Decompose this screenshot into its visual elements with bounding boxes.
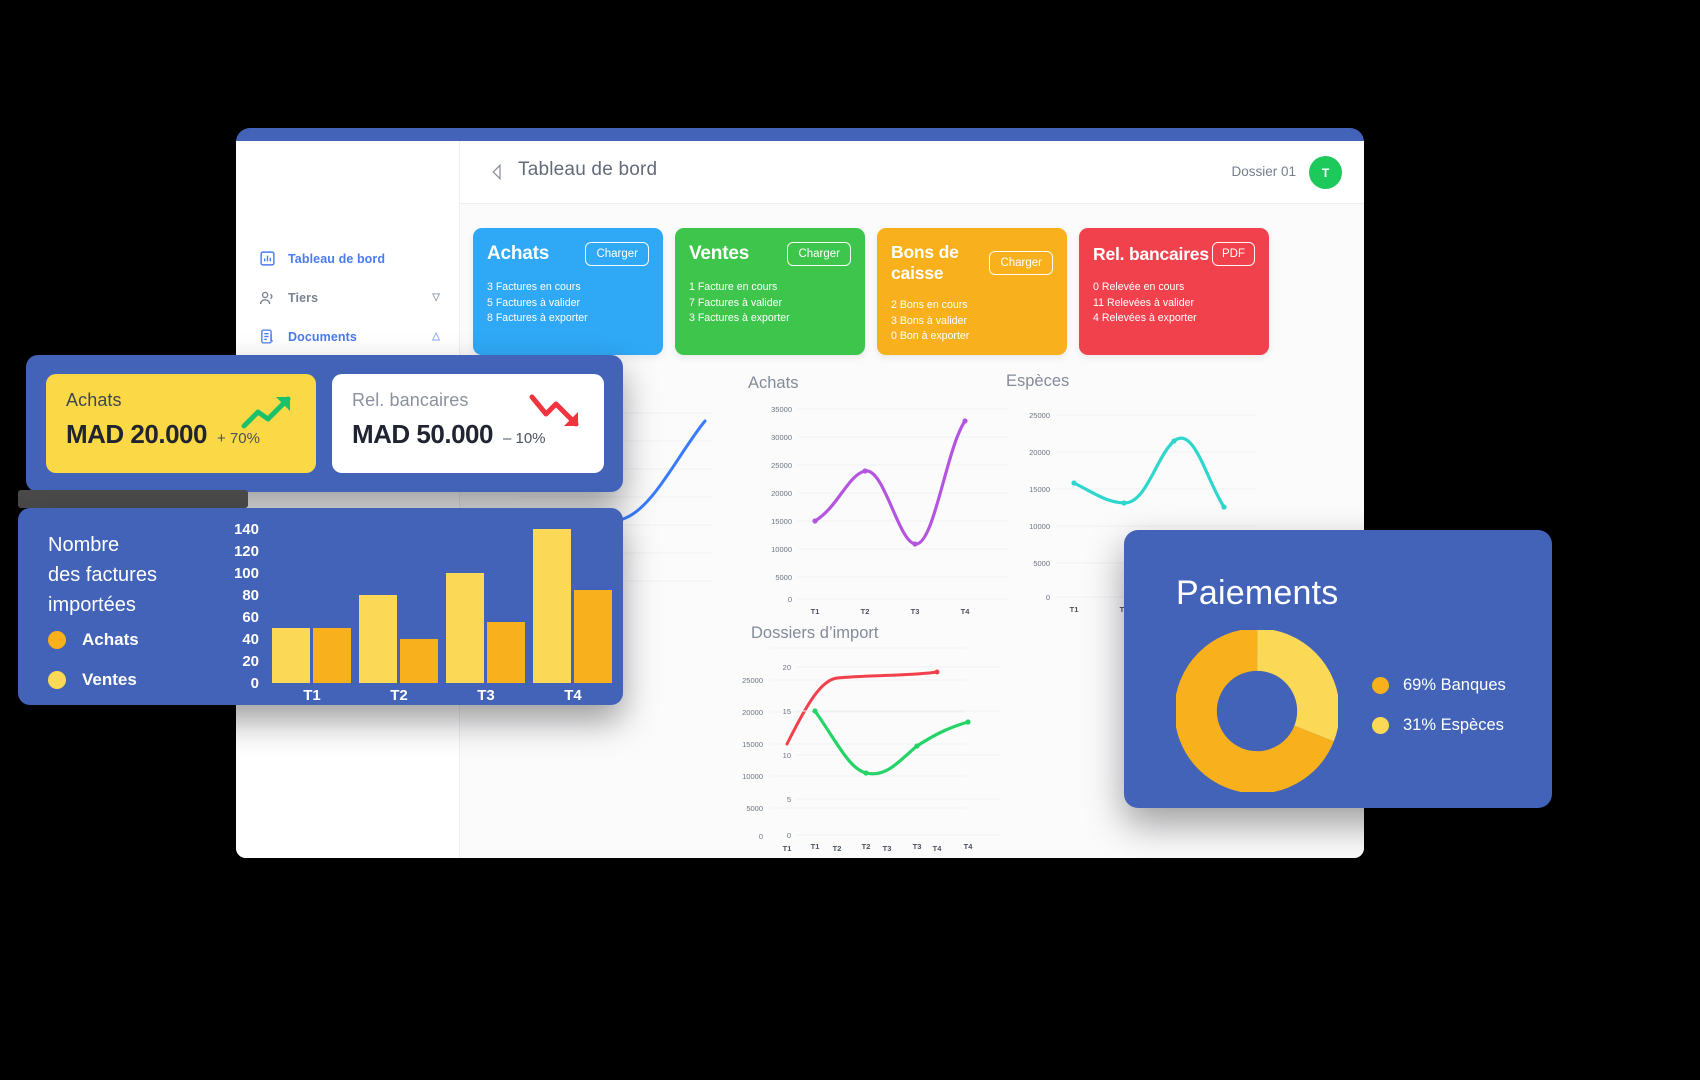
legend-label: Achats: [82, 630, 139, 650]
stat-card-achats[interactable]: Achats MAD 20.000 + 70%: [46, 374, 316, 473]
topbar: Tableau de bord Dossier 01 T: [460, 141, 1364, 204]
kpi-line: 0 Bon à exporter: [891, 329, 1053, 345]
svg-text:140: 140: [234, 521, 259, 538]
kpi-lines: 0 Relevée en cours 11 Relevées à valider…: [1093, 280, 1255, 327]
kpi-line: 3 Factures en cours: [487, 280, 649, 296]
svg-text:15: 15: [783, 707, 791, 716]
chart-title: Achats: [748, 374, 1018, 393]
document-icon: [258, 328, 276, 346]
kpi-load-button[interactable]: Charger: [787, 242, 851, 266]
page-title: Tableau de bord: [518, 159, 657, 181]
svg-text:T1: T1: [303, 687, 321, 703]
svg-text:10: 10: [783, 751, 791, 760]
legend-label: Ventes: [82, 670, 137, 690]
kpi-card-rel-bancaires[interactable]: Rel. bancaires PDF 0 Relevée en cours 11…: [1079, 228, 1269, 355]
svg-text:30000: 30000: [771, 433, 792, 442]
y-axis-ticks: 25000 20000 15000 10000 5000 0: [1029, 411, 1050, 602]
chevron-up-icon[interactable]: △: [432, 331, 440, 342]
svg-text:20000: 20000: [1029, 448, 1050, 457]
x-axis-ticks: T1 T2 T3 T4: [811, 842, 974, 851]
kpi-line: 3 Factures à exporter: [689, 311, 851, 327]
svg-text:T2: T2: [861, 607, 870, 616]
svg-text:T2: T2: [390, 687, 408, 703]
kpi-line: 1 Facture en cours: [689, 280, 851, 296]
legend-label: 69% Banques: [1403, 676, 1506, 695]
screenshot-stage: Tableau de bord Tiers ▽: [0, 0, 1700, 1080]
kpi-load-button[interactable]: Charger: [585, 242, 649, 266]
kpi-title: Achats: [487, 243, 549, 265]
bar-group-t1: [272, 628, 351, 683]
svg-text:40: 40: [242, 631, 259, 648]
svg-text:T3: T3: [913, 842, 922, 851]
x-axis-ticks: T1 T2 T3 T4: [303, 687, 582, 703]
paiements-panel: Paiements 69% Banques 31% Espèces: [1124, 530, 1552, 808]
legend-dot-icon: [1372, 677, 1389, 694]
svg-text:5000: 5000: [775, 573, 792, 582]
bar-chart-panel: Nombre des factures importées Achats Ven…: [18, 508, 623, 705]
svg-text:0: 0: [1046, 593, 1050, 602]
stat-cards-overlay: Achats MAD 20.000 + 70% Rel. bancaires M…: [26, 355, 623, 492]
bar-chart-legend: Achats Ventes: [48, 620, 139, 700]
bar-group-t2: [359, 595, 438, 683]
svg-text:5: 5: [787, 795, 791, 804]
kpi-line: 8 Factures à exporter: [487, 311, 649, 327]
svg-text:15000: 15000: [1029, 485, 1050, 494]
kpi-title: Bons de caisse: [891, 242, 989, 284]
paiements-donut-svg: [1176, 630, 1338, 792]
sidebar-item-tiers[interactable]: Tiers ▽: [236, 278, 460, 317]
svg-text:10000: 10000: [771, 545, 792, 554]
svg-text:35000: 35000: [771, 405, 792, 414]
legend-dot-icon: [48, 631, 66, 649]
y-axis-ticks: 35000 30000 25000 20000 15000 10000 5000…: [771, 405, 792, 604]
kpi-card-bons-de-caisse[interactable]: Bons de caisse Charger 2 Bons en cours 3…: [877, 228, 1067, 355]
kpi-load-button[interactable]: Charger: [989, 251, 1053, 275]
svg-text:T4: T4: [961, 607, 971, 616]
kpi-line: 3 Bons à valider: [891, 314, 1053, 330]
paiements-title: Paiements: [1176, 574, 1338, 613]
svg-text:0: 0: [788, 595, 792, 604]
legend-item-achats: Achats: [48, 620, 139, 660]
trend-down-icon: [528, 392, 586, 437]
kpi-line: 0 Relevée en cours: [1093, 280, 1255, 296]
svg-text:T1: T1: [811, 842, 820, 851]
kpi-card-ventes[interactable]: Ventes Charger 1 Facture en cours 7 Fact…: [675, 228, 865, 355]
legend-item-ventes: Ventes: [48, 660, 139, 700]
chevron-left-icon[interactable]: [488, 162, 506, 182]
chart-achats-svg: 35000 30000 25000 20000 15000 10000 5000…: [748, 399, 1018, 619]
heading-line: importées: [48, 590, 157, 620]
bar-chart-icon: [258, 250, 276, 268]
kpi-line: 2 Bons en cours: [891, 298, 1053, 314]
kpi-card-achats[interactable]: Achats Charger 3 Factures en cours 5 Fac…: [473, 228, 663, 355]
kpi-pdf-button[interactable]: PDF: [1212, 242, 1255, 266]
svg-text:15000: 15000: [771, 517, 792, 526]
svg-text:T4: T4: [964, 842, 974, 851]
kpi-header: Achats Charger: [487, 242, 649, 266]
svg-text:0: 0: [251, 675, 259, 692]
sidebar-nav: Tableau de bord Tiers ▽: [236, 239, 460, 356]
paiements-legend: 69% Banques 31% Espèces: [1372, 665, 1506, 745]
svg-text:10000: 10000: [1029, 522, 1050, 531]
y-axis-ticks: 140 120 100 80 60 40 20 0: [234, 521, 259, 692]
sidebar: Tableau de bord Tiers ▽: [236, 141, 460, 858]
svg-text:0: 0: [787, 831, 791, 840]
legend-item-especes: 31% Espèces: [1372, 705, 1506, 745]
svg-text:20000: 20000: [771, 489, 792, 498]
sidebar-item-documents[interactable]: Documents △: [236, 317, 460, 356]
svg-text:T3: T3: [477, 687, 495, 703]
sidebar-item-label: Documents: [288, 330, 432, 344]
heading-line: Nombre: [48, 530, 157, 560]
legend-item-banques: 69% Banques: [1372, 665, 1506, 705]
svg-text:T3: T3: [911, 607, 920, 616]
kpi-card-row: Achats Charger 3 Factures en cours 5 Fac…: [473, 228, 1269, 355]
gridlines: [798, 409, 1008, 599]
svg-text:80: 80: [242, 587, 259, 604]
svg-text:25000: 25000: [771, 461, 792, 470]
y-axis-ticks: 20 15 10 5 0: [783, 663, 791, 840]
sidebar-item-tableau-de-bord[interactable]: Tableau de bord: [236, 239, 460, 278]
kpi-header: Ventes Charger: [689, 242, 851, 266]
gridlines: [797, 667, 1001, 835]
chart-title: Espèces: [1006, 372, 1266, 391]
kpi-title: Ventes: [689, 243, 749, 265]
chart-title: Dossiers d’import: [751, 624, 1021, 643]
svg-text:120: 120: [234, 543, 259, 560]
stat-card-value: MAD 50.000: [352, 419, 493, 450]
svg-text:T2: T2: [862, 842, 871, 851]
kpi-line: 4 Relevées à exporter: [1093, 311, 1255, 327]
kpi-lines: 2 Bons en cours 3 Bons à valider 0 Bon à…: [891, 298, 1053, 345]
kpi-title: Rel. bancaires: [1093, 244, 1209, 265]
kpi-lines: 3 Factures en cours 5 Factures à valider…: [487, 280, 649, 327]
svg-text:20: 20: [783, 663, 791, 672]
svg-text:100: 100: [234, 565, 259, 582]
svg-text:T4: T4: [564, 687, 582, 703]
bar-group-t3: [446, 573, 525, 683]
svg-text:T1: T1: [811, 607, 820, 616]
avatar[interactable]: T: [1309, 156, 1342, 189]
svg-text:25000: 25000: [1029, 411, 1050, 420]
users-icon: [258, 289, 276, 307]
bar-panel-heading: Nombre des factures importées: [48, 530, 157, 620]
sidebar-item-label: Tiers: [288, 291, 432, 305]
bar-group-t4: [533, 529, 612, 683]
kpi-line: 7 Factures à valider: [689, 296, 851, 312]
legend-dot-icon: [48, 671, 66, 689]
svg-text:5000: 5000: [1033, 559, 1050, 568]
svg-text:20: 20: [242, 653, 259, 670]
chevron-down-icon[interactable]: ▽: [432, 292, 440, 303]
dossier-label: Dossier 01: [1231, 164, 1296, 179]
legend-label: 31% Espèces: [1403, 716, 1504, 735]
stat-card-value: MAD 20.000: [66, 419, 207, 450]
svg-text:60: 60: [242, 609, 259, 626]
chart-achats: Achats 35000: [748, 374, 1018, 624]
kpi-header: Bons de caisse Charger: [891, 242, 1053, 284]
kpi-lines: 1 Facture en cours 7 Factures à valider …: [689, 280, 851, 327]
bar-chart-svg: 140 120 100 80 60 40 20 0: [214, 518, 614, 703]
x-axis-ticks: T1 T2 T3 T4: [811, 607, 971, 616]
sidebar-item-label: Tableau de bord: [288, 252, 440, 266]
kpi-header: Rel. bancaires PDF: [1093, 242, 1255, 266]
panel-shadow-slab: [18, 490, 248, 508]
kpi-line: 11 Relevées à valider: [1093, 296, 1255, 312]
chart-dossiers-dimport: Dossiers d’import 20 15 10: [751, 624, 1021, 858]
chart-dossiers-svg: 20 15 10 5 0 T1 T2 T3 T4: [751, 649, 1021, 854]
heading-line: des factures: [48, 560, 157, 590]
kpi-line: 5 Factures à valider: [487, 296, 649, 312]
trend-up-icon: [240, 392, 298, 437]
legend-dot-icon: [1372, 717, 1389, 734]
svg-text:T1: T1: [1070, 605, 1079, 614]
stat-card-rel-bancaires[interactable]: Rel. bancaires MAD 50.000 – 10%: [332, 374, 604, 473]
